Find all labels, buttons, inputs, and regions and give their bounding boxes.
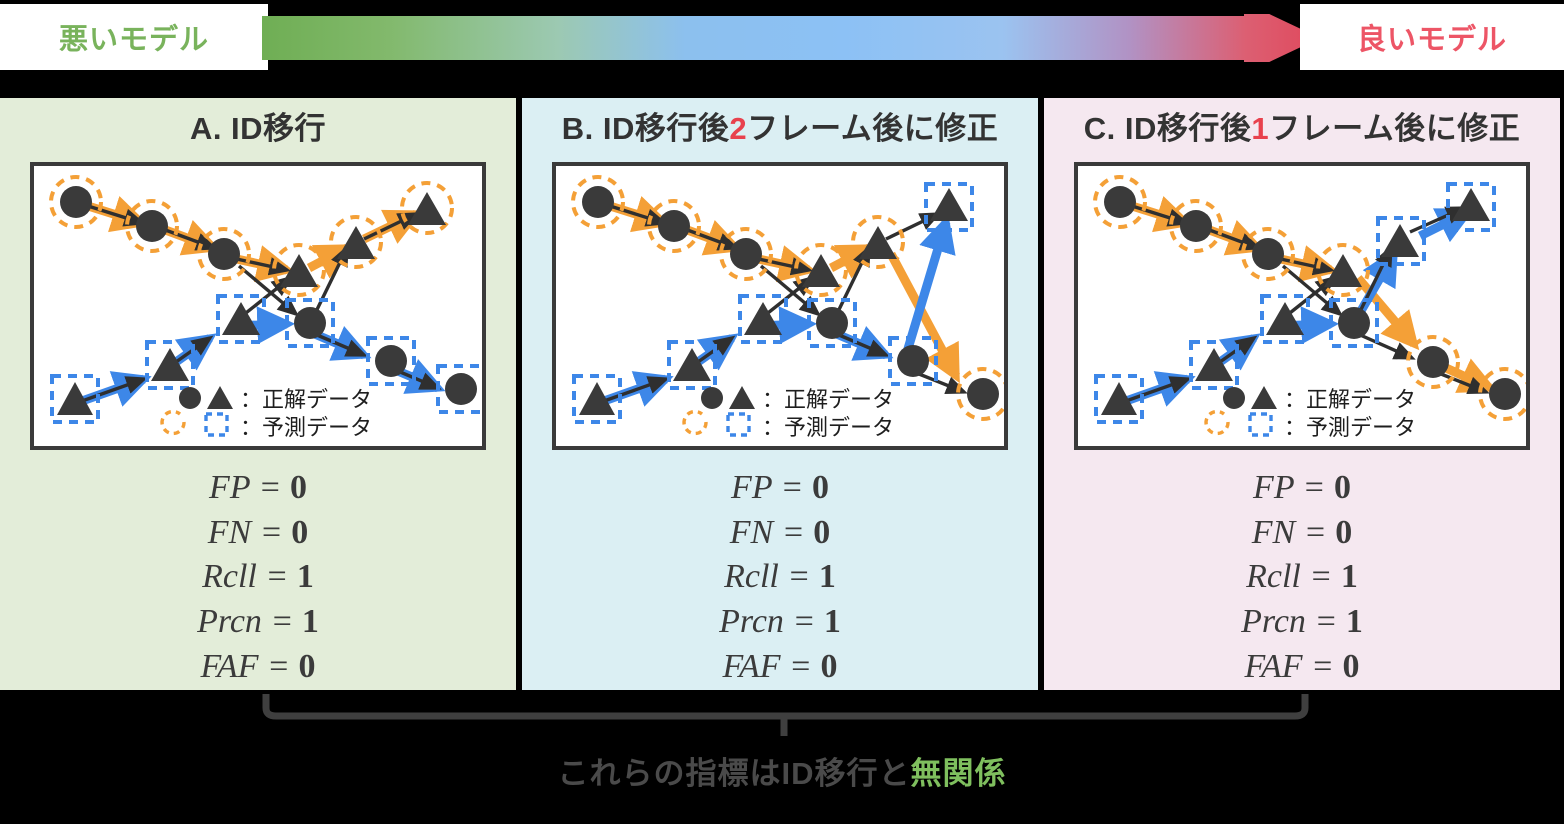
panel-c: C. ID移行後1フレーム後に修正 [1044,98,1560,690]
panel-c-diagram: ：正解データ ：予測データ [1074,162,1530,450]
good-model-label: 良いモデル [1357,16,1507,58]
panel-c-title-post: フレーム後に修正 [1269,113,1520,144]
metric-prcn: Prcn = 1 [197,600,319,645]
metric-fn: FN = 0 [208,511,308,556]
metric-fn: FN = 0 [730,511,830,556]
metric-rcll: Rcll = 1 [724,555,836,600]
panel-b-legend: ：正解データ ：予測データ [684,386,894,440]
metric-prcn: Prcn = 1 [1241,600,1363,645]
metric-fn: FN = 0 [1252,511,1352,556]
caption-prefix: これらの指標はID移行と [558,756,911,791]
progress-arrow-icon [262,14,1320,62]
header-band: 悪いモデル 良いモデル [0,0,1564,78]
panel-b: B. ID移行後2フレーム後に修正 [522,98,1038,690]
legend-pred-label: ：予測データ [1284,415,1416,440]
panels-row: A. ID移行 [0,98,1564,690]
panel-a: A. ID移行 [0,98,516,690]
panel-a-metrics: FP = 0 FN = 0 Rcll = 1 Prcn = 1 FAF = 0 [197,466,319,690]
panel-a-title-text: A. ID移行 [190,113,326,144]
panel-c-legend: ：正解データ ：予測データ [1206,386,1416,440]
metric-fp: FP = 0 [209,466,307,511]
panel-a-diagram: ：正解データ ：予測データ [30,162,486,450]
panel-b-metrics: FP = 0 FN = 0 Rcll = 1 Prcn = 1 FAF = 0 [719,466,841,690]
metric-rcll: Rcll = 1 [202,555,314,600]
panel-c-tracks-svg: ：正解データ ：予測データ [1078,166,1526,446]
metric-faf: FAF = 0 [1245,645,1360,690]
legend-gt-label: ：正解データ [762,387,894,412]
panel-b-title: B. ID移行後2フレーム後に修正 [562,110,998,148]
panel-a-tracks-svg: ：正解データ ：予測データ [34,166,482,446]
metric-fp: FP = 0 [1253,466,1351,511]
bad-model-chip: 悪いモデル [0,4,268,70]
legend-pred-label: ：予測データ [762,415,894,440]
panel-b-tracks-svg: ：正解データ ：予測データ [556,166,1004,446]
panel-c-title-highlight: 1 [1251,113,1269,144]
metric-faf: FAF = 0 [723,645,838,690]
metric-prcn: Prcn = 1 [719,600,841,645]
metric-fp: FP = 0 [731,466,829,511]
panel-b-title-pre: B. ID移行後 [562,113,730,144]
caption: これらの指標はID移行と無関係 [0,748,1564,793]
legend-gt-label: ：正解データ [1284,387,1416,412]
panel-a-legend: ：正解データ ：予測データ [162,386,372,440]
panel-a-title: A. ID移行 [190,110,326,148]
bad-model-label: 悪いモデル [59,16,209,58]
caption-highlight: 無関係 [911,756,1007,791]
panel-b-diagram: ：正解データ ：予測データ [552,162,1008,450]
grouping-bracket-icon [0,690,1564,738]
legend-gt-label: ：正解データ [240,387,372,412]
panel-b-title-highlight: 2 [729,113,747,144]
panel-c-metrics: FP = 0 FN = 0 Rcll = 1 Prcn = 1 FAF = 0 [1241,466,1363,690]
metric-rcll: Rcll = 1 [1246,555,1358,600]
panel-c-title: C. ID移行後1フレーム後に修正 [1084,110,1520,148]
bottom-section: これらの指標はID移行と無関係 [0,690,1564,824]
metric-faf: FAF = 0 [201,645,316,690]
good-model-chip: 良いモデル [1300,4,1564,70]
panel-c-title-pre: C. ID移行後 [1084,113,1252,144]
legend-pred-label: ：予測データ [240,415,372,440]
panel-b-title-post: フレーム後に修正 [747,113,998,144]
